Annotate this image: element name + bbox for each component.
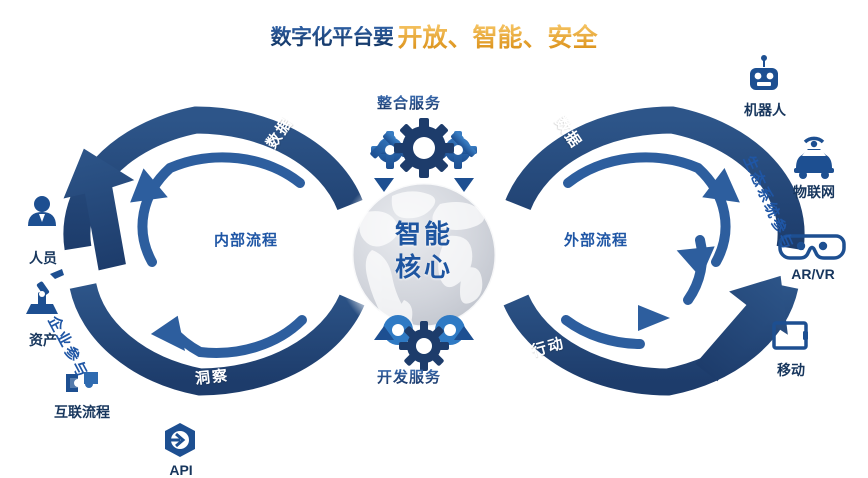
core-label: 智能 核心	[374, 218, 474, 283]
left-loop-inner-arrows	[126, 157, 302, 353]
page-title: 数字化平台要开放、智能、安全	[0, 18, 868, 54]
left-item-label-connected-process: 互联流程	[26, 402, 138, 422]
development-gears-icon	[383, 315, 465, 371]
left-loop-bottom-band-label: 洞察	[194, 364, 230, 388]
core-line-1: 智能	[374, 218, 474, 251]
left-item-label-api: API	[152, 462, 210, 478]
person-icon	[28, 196, 56, 226]
api-gear-icon	[165, 423, 195, 457]
left-item-label-personnel: 人员	[14, 248, 72, 268]
left-loop-inner-label: 内部流程	[214, 229, 278, 250]
right-loop-inner-label: 外部流程	[564, 229, 628, 250]
diagram-canvas: 数字化平台要开放、智能、安全	[0, 0, 868, 478]
connected-car-icon	[794, 138, 834, 179]
right-item-label-mobile: 移动	[762, 360, 820, 380]
right-item-label-iot: 物联网	[783, 182, 845, 202]
right-item-label-arvr: AR/VR	[782, 266, 844, 282]
core-line-2: 核心	[374, 251, 474, 284]
left-item-label-assets: 资产	[14, 330, 72, 350]
robot-icon	[750, 55, 778, 90]
right-item-label-robot: 机器人	[735, 100, 795, 120]
right-loop-inner-arrows	[566, 157, 744, 344]
development-service-label: 开发服务	[377, 366, 441, 387]
robot-arm-icon	[26, 269, 64, 314]
title-orange-segment: 开放、智能、安全	[397, 24, 597, 52]
title-blue-segment: 数字化平台要	[270, 26, 393, 49]
integration-gears-icon	[369, 118, 477, 178]
integration-service-label: 整合服务	[377, 92, 441, 113]
